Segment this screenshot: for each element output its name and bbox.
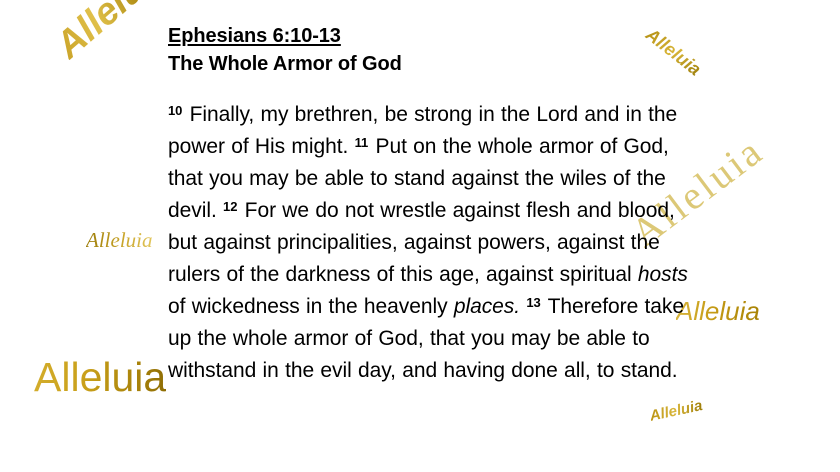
emphasized-word: places.: [454, 295, 520, 318]
scripture-reference: Ephesians 6:10-13: [168, 22, 708, 50]
alleluia-watermark-top-left: Alleluia: [48, 0, 178, 68]
verse-number: 11: [355, 135, 369, 150]
alleluia-watermark-bottom-left: Alleluia: [34, 354, 166, 401]
verse-number: 13: [526, 295, 540, 310]
emphasized-word: hosts: [638, 263, 688, 286]
alleluia-watermark-bottom-right: Alleluia: [648, 397, 704, 425]
slide-canvas: Alleluia Alleluia Alleluia Alleluia Alle…: [0, 0, 840, 472]
alleluia-watermark-left-middle: Alleluia: [86, 228, 153, 253]
scripture-body: 10 Finally, my brethren, be strong in th…: [168, 99, 708, 387]
scripture-block: Ephesians 6:10-13 The Whole Armor of God…: [168, 22, 708, 387]
verse-number: 10: [168, 103, 182, 118]
page-title: The Whole Armor of God: [168, 50, 708, 78]
verse-number: 12: [223, 199, 237, 214]
